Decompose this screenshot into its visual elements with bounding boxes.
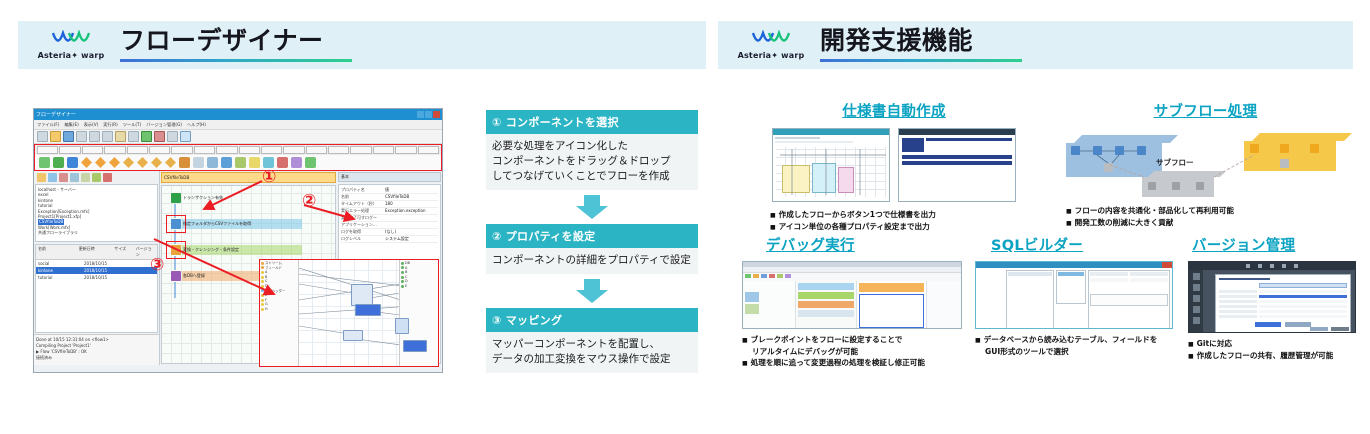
step-3-body: マッパーコンポーネントを配置し、 データの加工変換をマウス操作で設定 (486, 332, 698, 373)
feature-debug-run-title: デバッグ実行 (742, 234, 972, 255)
property-row: 実行エラー処理Exception.exception (341, 208, 438, 215)
warp-mark-icon (50, 30, 92, 50)
property-value: 値 (385, 187, 438, 193)
asteria-wordmark: Asteria✦ warp (38, 51, 105, 60)
bullet-text: ブレークポイントをフローに設定することで (751, 335, 903, 344)
node-icon-database (171, 271, 181, 281)
component-icon-merge[interactable] (179, 157, 190, 168)
step-1-line: コンポーネントをドラッグ＆ドロップ (492, 154, 692, 169)
cell-name: tutorial (36, 274, 82, 281)
component-icon-branch-2[interactable] (137, 157, 148, 168)
component-icon-xml[interactable] (277, 157, 288, 168)
component-icon-mail[interactable] (249, 157, 260, 168)
toolbar-icon-undo[interactable] (128, 131, 139, 142)
step-3: ③ マッピング マッパーコンポーネントを配置し、 データの加工変換をマウス操作で… (486, 308, 698, 373)
nav-icon-sort[interactable] (81, 173, 90, 182)
mapper-canvas[interactable] (299, 260, 399, 366)
toolbar-icon-print[interactable] (76, 131, 87, 142)
step-arrow-2-to-3 (486, 279, 698, 303)
palette-tab-ftp[interactable] (328, 146, 349, 154)
mapper-tree-item: H (265, 307, 268, 312)
palette-tab-amazon[interactable] (395, 146, 416, 154)
component-icon-export[interactable] (305, 157, 316, 168)
debug-screenshot (742, 261, 962, 329)
palette-tab-kintone[interactable] (373, 146, 394, 154)
bullet-text: データベースから読み込むテーブル、フィールドを (984, 335, 1158, 344)
feature-version-control: バージョン管理 (1188, 234, 1366, 362)
main-toolbar[interactable] (34, 130, 442, 144)
toolbar-icon-run[interactable] (141, 131, 152, 142)
property-value[interactable]: Exception.exception (385, 208, 438, 214)
file-table[interactable]: 名前 更新日時 サイズ バージョン social 2018/10/15 kint… (35, 244, 158, 333)
palette-tab-archive[interactable] (171, 146, 192, 154)
feature-debug-run: デバッグ実行 (742, 234, 972, 369)
component-icon-mapper-1[interactable] (81, 157, 92, 168)
asteria-wordmark-2: Asteria✦ warp (738, 51, 805, 60)
step-2-body: コンポーネントの詳細をプロパティで設定 (486, 248, 698, 274)
node-label: 指定フォルダからCSVファイルを取得 (183, 221, 251, 227)
property-value[interactable] (385, 222, 438, 228)
component-icon-grid[interactable] (207, 157, 218, 168)
cell-updated: 2018/10/15 (82, 274, 122, 281)
step-2-title: ② プロパティを設定 (486, 224, 698, 248)
spec-document-output (898, 128, 1016, 202)
node-icon-file (171, 219, 181, 229)
warp-mark-icon-2 (750, 30, 792, 50)
palette-tab-file[interactable] (59, 146, 80, 154)
nav-icon-project[interactable] (59, 173, 68, 182)
component-icon-mapper-2[interactable] (95, 157, 106, 168)
table-row[interactable]: kintone 2018/10/15 (36, 267, 157, 274)
toolbar-icon-zoom[interactable] (180, 131, 191, 142)
arrow-down-icon (572, 195, 612, 219)
palette-highlight-box (34, 144, 442, 171)
menu-item-version[interactable]: バージョン管理(G) (146, 122, 182, 128)
bullet-text: Gitに対応 (1197, 339, 1232, 348)
flow-node-mapper[interactable]: 変換・クレンジング・条件設定 (170, 244, 303, 256)
step-1-body: 必要な処理をアイコン化した コンポーネントをドラッグ＆ドロップ してつなげていく… (486, 134, 698, 190)
version-control-screenshot (1188, 261, 1356, 333)
step-3-title: ③ マッピング (486, 308, 698, 332)
mapper-tree-item: フィールド (265, 266, 282, 271)
property-value[interactable]: システム設定 (385, 236, 438, 242)
property-row: 実行完了可すログー (341, 215, 438, 222)
cell-name: kintone (36, 267, 82, 274)
mapper-node-calc[interactable] (343, 330, 363, 341)
mapper-node-concat[interactable] (351, 284, 373, 306)
step-1: ① コンポーネントを選択 必要な処理をアイコン化した コンポーネントをドラッグ＆… (486, 110, 698, 190)
node-label: 各DBへ登録 (183, 273, 205, 279)
feature-subflow-title: サブフロー処理 (1058, 100, 1353, 121)
flow-tab-csvfiletodb[interactable]: CSVfileToDB (161, 172, 336, 183)
arrow-down-icon-2 (572, 279, 612, 303)
property-value[interactable]: 180 (385, 201, 438, 207)
col-size: サイズ (112, 245, 134, 259)
feature-sql-builder: SQLビルダー (975, 234, 1187, 357)
mapper-node-date[interactable] (355, 304, 381, 316)
feature-subflow: サブフロー処理 (1058, 100, 1353, 229)
subflow-connectors (1058, 125, 1353, 203)
header-rule (120, 59, 352, 62)
property-key: ログを取得 (341, 229, 385, 235)
component-icon-db[interactable] (221, 157, 232, 168)
menu-item-file[interactable]: ファイル(F) (37, 122, 59, 128)
properties-tab-label: 基本 (341, 174, 349, 180)
bullet-text: フローの内容を共通化・部品化して再利用可能 (1075, 206, 1234, 215)
feature-sql-builder-title: SQLビルダー (975, 234, 1187, 255)
page-title-flow-designer: フローデザイナー (120, 28, 352, 54)
feature-spec-auto-title: 仕様書自動作成 (748, 100, 1040, 121)
table-row[interactable]: tutorial 2018/10/15 (36, 274, 157, 281)
property-key: 実行エラー処理 (341, 208, 385, 214)
toolbar-icon-new[interactable] (37, 131, 48, 142)
property-value[interactable]: CSVfileToDB (385, 194, 438, 200)
mapper-tree-item: 行番ヘッダー (265, 289, 285, 294)
property-value[interactable]: (なし) (385, 229, 438, 235)
nav-icon-settings[interactable] (92, 173, 101, 182)
palette-tab-xml[interactable] (239, 146, 260, 154)
feature-version-control-title: バージョン管理 (1188, 234, 1366, 255)
nav-icon-refresh[interactable] (70, 173, 79, 182)
menu-item-tools[interactable]: ツール(T) (123, 122, 141, 128)
toolbar-icon-copy[interactable] (102, 131, 113, 142)
flow-node-transaction[interactable]: トランザクション有効 (170, 192, 223, 204)
bullet-text: 処理を順に追って変更過程の処理を検証し修正可能 (751, 358, 925, 367)
annotation-number-1: ① (262, 169, 276, 186)
node-label: 変換・クレンジング・条件設定 (183, 247, 239, 253)
sql-builder-screenshot (975, 261, 1173, 329)
mapper-inset-screenshot: ストリーム フィールド A B C D 行番ヘッダー E F G H (259, 259, 439, 367)
page-title-dev-support: 開発支援機能 (820, 28, 1022, 54)
toolbar-icon-paste[interactable] (115, 131, 126, 142)
palette-tab-cloud[interactable] (306, 146, 327, 154)
feature-debug-run-bullets: ■ブレークポイントをフローに設定することで リアルタイムにデバッグが可能 ■処理… (742, 334, 972, 369)
bullet-text: アイコン単位の各種プロパティ設定まで出力 (779, 222, 930, 231)
component-icon-branch-1[interactable] (123, 157, 134, 168)
feature-subflow-bullets: ■フローの内容を共通化・部品化して再利用可能 ■開発工数の削減に大きく貢献 (1058, 205, 1353, 229)
toolbar-icon-stop[interactable] (167, 131, 178, 142)
feature-spec-auto: 仕様書自動作成 (748, 100, 1040, 233)
menu-item-help[interactable]: ヘルプ(H) (187, 122, 206, 128)
console-panel: Done at 10/15 12:31:04 on <flow1> Compil… (34, 334, 159, 365)
mapper-links (299, 260, 399, 366)
window-titlebar: フローデザイナー (34, 109, 442, 120)
mapper-target-item: E (405, 284, 407, 289)
bullet-text: リアルタイムにデバッグが可能 (752, 347, 858, 356)
menu-item-run[interactable]: 実行(R) (103, 122, 118, 128)
header-flow-designer: Asteria✦ warp フローデザイナー (18, 21, 706, 69)
bullet-text: 作成したフローの共有、履歴管理が可能 (1197, 351, 1334, 360)
component-icon-start[interactable] (39, 157, 50, 168)
annotation-number-3: ③ (150, 257, 164, 274)
palette-tab-encode[interactable] (37, 146, 58, 154)
property-key: ログレベル (341, 236, 385, 242)
property-row: アプリケーション… (341, 222, 438, 229)
nav-icon-newflow[interactable] (48, 173, 57, 182)
window-title: フローデザイナー (36, 111, 76, 118)
menu-item-edit[interactable]: 編集(E) (64, 122, 78, 128)
palette-tab-salesforce[interactable] (350, 146, 371, 154)
flow-node-csv-read[interactable]: 指定フォルダからCSVファイルを取得 (170, 218, 303, 230)
properties-tab-basic[interactable]: 基本 (338, 172, 441, 182)
step-1-title: ① コンポーネントを選択 (486, 110, 698, 134)
step-2: ② プロパティを設定 コンポーネントの詳細をプロパティで設定 (486, 224, 698, 274)
mapper-source-tree[interactable]: ストリーム フィールド A B C D 行番ヘッダー E F G H (260, 260, 299, 366)
asteria-warp-logo-2: Asteria✦ warp (732, 30, 810, 60)
node-label: トランザクション有効 (183, 195, 223, 201)
feature-sql-builder-bullets: ■データベースから読み込むテーブル、フィールドを GUI形式のツールで選択 (975, 334, 1187, 357)
bullet-text: 開発工数の削減に大きく貢献 (1075, 218, 1174, 227)
navigator-panel: localhost - サーバー excel kintone tutorial … (34, 171, 160, 365)
property-key: 実行完了可すログー (341, 215, 385, 221)
property-value[interactable] (385, 215, 438, 221)
header-rule-2 (820, 59, 1022, 62)
menu-item-view[interactable]: 表示(V) (84, 122, 99, 128)
table-row[interactable]: social 2018/10/15 (36, 260, 157, 267)
property-key: プロパティ名 (341, 187, 385, 193)
palette-tabstrip[interactable] (35, 145, 441, 155)
component-palette[interactable] (35, 155, 441, 170)
palette-tab-webservice[interactable] (283, 146, 304, 154)
palette-tab-database[interactable] (82, 146, 103, 154)
property-row: ログレベルシステム設定 (341, 236, 438, 243)
palette-tab-structured[interactable] (261, 146, 282, 154)
spec-designer-screenshot (772, 128, 890, 202)
steps-column: ① コンポーネントを選択 必要な処理をアイコン化した コンポーネントをドラッグ＆… (486, 110, 698, 373)
palette-tab-script[interactable] (216, 146, 237, 154)
flow-tab-label: CSVfileToDB (164, 175, 189, 180)
col-name: 名前 (36, 245, 77, 259)
component-icon-mapper-3[interactable] (109, 157, 120, 168)
property-key: タイムアウト（秒） (341, 201, 385, 207)
cell-updated: 2018/10/15 (82, 267, 122, 274)
project-tree[interactable]: localhost - サーバー excel kintone tutorial … (35, 184, 158, 242)
tree-item-shared[interactable]: 共通フローライブラリ (38, 230, 155, 235)
mapper-node-out[interactable] (403, 340, 427, 352)
palette-tab-internet[interactable] (127, 146, 148, 154)
menu-bar[interactable]: ファイル(F) 編集(E) 表示(V) 実行(R) ツール(T) バージョン管理… (34, 120, 442, 130)
navigator-toolbar[interactable] (34, 171, 159, 183)
palette-tab-box[interactable] (418, 146, 439, 154)
step-2-line: コンポーネントの詳細をプロパティで設定 (492, 253, 692, 268)
feature-version-control-bullets: ■Gitに対応 ■作成したフローの共有、履歴管理が可能 (1188, 338, 1366, 362)
cell-updated: 2018/10/15 (82, 260, 122, 267)
bullet-text: 作成したフローからボタン1つで仕様書を出力 (779, 210, 936, 219)
component-icon-branch-3[interactable] (151, 157, 162, 168)
window-controls[interactable] (417, 111, 440, 118)
mapper-node-func[interactable] (395, 318, 409, 334)
step-arrow-1-to-2 (486, 195, 698, 219)
palette-tab-excel[interactable] (104, 146, 125, 154)
header-dev-support: Asteria✦ warp 開発支援機能 (718, 21, 1353, 69)
step-1-line: 必要な処理をアイコン化した (492, 139, 692, 154)
toolbar-icon-open[interactable] (50, 131, 61, 142)
palette-tab-report[interactable] (194, 146, 215, 154)
toolbar-icon-save[interactable] (63, 131, 74, 142)
file-table-header: 名前 更新日時 サイズ バージョン (36, 245, 157, 260)
component-icon-end[interactable] (53, 157, 64, 168)
step-3-line: データの加工変換をマウス操作で設定 (492, 352, 692, 367)
component-icon-filter[interactable] (235, 157, 246, 168)
property-row: 名前CSVfileToDB (341, 194, 438, 201)
property-key: 名前 (341, 194, 385, 200)
status-badge: 接続済み (36, 355, 157, 361)
node-icon-mapper (171, 245, 181, 255)
step-1-line: してつなげていくことでフローを作成 (492, 169, 692, 184)
nav-icon-folder[interactable] (37, 173, 46, 182)
toolbar-icon-cut[interactable] (89, 131, 100, 142)
component-icon-script[interactable] (291, 157, 302, 168)
property-row: ログを取得(なし) (341, 229, 438, 236)
feature-spec-auto-bullets: ■作成したフローからボタン1つで仕様書を出力 ■アイコン単位の各種プロパティ設定… (748, 209, 1040, 233)
step-3-line: マッパーコンポーネントを配置し、 (492, 337, 692, 352)
bullet-text: GUI形式のツールで選択 (985, 347, 1069, 356)
flow-designer-screenshot: フローデザイナー ファイル(F) 編集(E) 表示(V) 実行(R) ツール(T… (33, 108, 443, 373)
component-icon-stream[interactable] (67, 157, 78, 168)
col-updated: 更新日時 (77, 245, 113, 259)
subflow-diagram: サブフロー (1058, 125, 1353, 203)
property-row: タイムアウト（秒）180 (341, 201, 438, 208)
property-key: アプリケーション… (341, 222, 385, 228)
nav-icon-delete[interactable] (103, 173, 112, 182)
palette-tab-mail[interactable] (149, 146, 170, 154)
property-row: プロパティ名値 (341, 187, 438, 194)
toolbar-icon-debug[interactable] (154, 131, 165, 142)
node-icon-start (171, 193, 181, 203)
annotation-number-2: ② (302, 193, 316, 210)
asteria-warp-logo: Asteria✦ warp (32, 30, 110, 60)
cell-name: social (36, 260, 82, 267)
component-icon-table[interactable] (193, 157, 204, 168)
component-icon-branch-4[interactable] (165, 157, 176, 168)
